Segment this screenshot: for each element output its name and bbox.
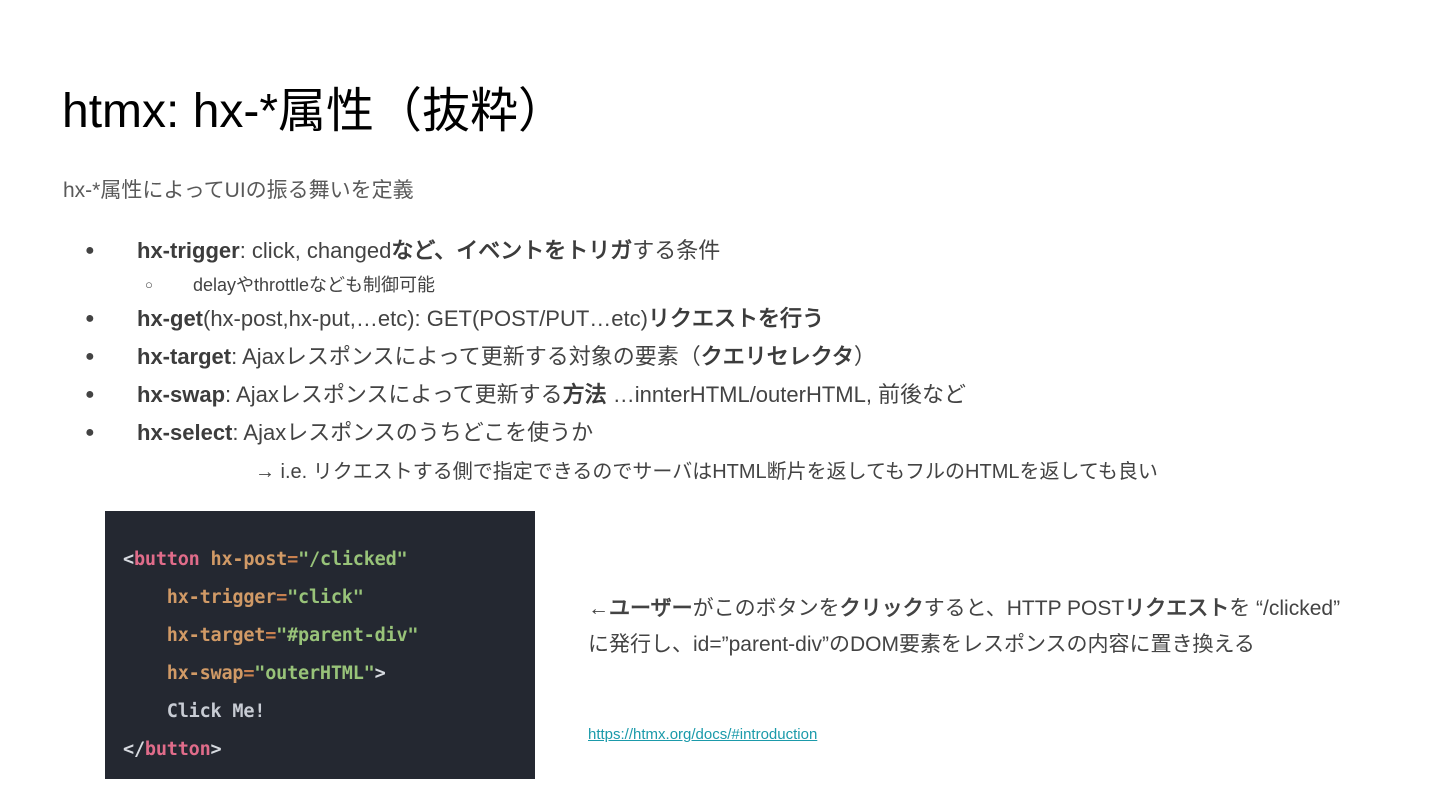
bullet-attribute-name: hx-trigger bbox=[137, 238, 240, 263]
bullet-text-plain: (hx-post,hx-put,…etc): GET(POST/PUT…etc) bbox=[203, 306, 648, 331]
code-token-punct bbox=[200, 549, 211, 570]
bullet-text-emphasis: など、イベントをトリガ bbox=[391, 238, 632, 263]
code-token-attr: hx-target bbox=[167, 625, 265, 646]
code-line-5: Click Me! bbox=[123, 693, 535, 731]
code-token-str: "click" bbox=[287, 587, 364, 608]
code-token-punct: > bbox=[375, 663, 386, 684]
desc-plain-b: すると、HTTP POST bbox=[924, 597, 1125, 620]
code-token-str: "#parent-div" bbox=[276, 625, 418, 646]
desc-bold-a: ユーザー bbox=[609, 597, 693, 620]
code-line-6: </button> bbox=[123, 731, 535, 769]
code-description: ←ユーザーがこのボタンをクリックすると、HTTP POSTリクエストを “/cl… bbox=[588, 591, 1348, 663]
bullet-text-emphasis: リクエストを行う bbox=[648, 306, 824, 331]
code-token-punct bbox=[123, 587, 167, 608]
bullet-text-emphasis: 方法 bbox=[563, 382, 607, 407]
desc-bold-b: クリック bbox=[840, 597, 924, 620]
bullet-marker-filled-icon: ● bbox=[85, 338, 137, 376]
code-token-str: "/clicked" bbox=[298, 549, 407, 570]
bullet-hx-select: ●hx-select: Ajaxレスポンスのうちどこを使うか bbox=[63, 414, 1383, 452]
bullet-attribute-name: hx-swap bbox=[137, 382, 225, 407]
bullet-text-tail: ） bbox=[854, 344, 876, 369]
bullet-hx-swap: ●hx-swap: Ajaxレスポンスによって更新する方法 …innterHTM… bbox=[63, 376, 1383, 414]
bullet-text: hx-swap: Ajaxレスポンスによって更新する方法 …innterHTML… bbox=[137, 376, 1383, 414]
bullet-text-emphasis: クエリセレクタ bbox=[701, 344, 854, 369]
code-token-str: "outerHTML" bbox=[254, 663, 374, 684]
bullet-text-plain: delayやthrottleなども制御可能 bbox=[193, 275, 435, 295]
bullet-text: delayやthrottleなども制御可能 bbox=[193, 270, 1383, 300]
bullet-hx-trigger: ●hx-trigger: click, changedなど、イベントをトリガする… bbox=[63, 232, 1383, 270]
slide-canvas: htmx: hx-*属性（抜粋） hx-*属性によってUIの振る舞いを定義 ●h… bbox=[0, 0, 1440, 810]
page-title: htmx: hx-*属性（抜粋） bbox=[62, 82, 566, 142]
code-sample-image: <button hx-post="/clicked" hx-trigger="c… bbox=[105, 511, 535, 779]
bullet-text-plain: : click, changed bbox=[240, 238, 392, 263]
code-token-eq: = bbox=[243, 663, 254, 684]
bullet-text: hx-get(hx-post,hx-put,…etc): GET(POST/PU… bbox=[137, 300, 1383, 338]
bullet-text-plain: : Ajaxレスポンスのうちどこを使うか bbox=[232, 420, 593, 445]
code-token-text: Click Me! bbox=[123, 701, 265, 722]
bullet-text: hx-trigger: click, changedなど、イベントをトリガする条… bbox=[137, 232, 1383, 270]
code-line-3: hx-target="#parent-div" bbox=[123, 617, 535, 655]
bullet-text: hx-target: Ajaxレスポンスによって更新する対象の要素（クエリセレク… bbox=[137, 338, 1383, 376]
code-token-punct bbox=[123, 625, 167, 646]
bullet-hx-target: ●hx-target: Ajaxレスポンスによって更新する対象の要素（クエリセレ… bbox=[63, 338, 1383, 376]
code-token-punct: </ bbox=[123, 739, 145, 760]
bullet-text: hx-select: Ajaxレスポンスのうちどこを使うか bbox=[137, 414, 1383, 452]
bullet-text-tail: …innterHTML/outerHTML, 前後など bbox=[607, 382, 966, 407]
bullet-text-plain: : Ajaxレスポンスによって更新する bbox=[225, 382, 563, 407]
bullet-delay-throttle: ○delayやthrottleなども制御可能 bbox=[63, 270, 1383, 300]
htmx-docs-link[interactable]: https://htmx.org/docs/#introduction bbox=[588, 724, 817, 746]
slide-subtitle: hx-*属性によってUIの振る舞いを定義 bbox=[63, 176, 414, 206]
code-token-eq: = bbox=[276, 587, 287, 608]
code-token-attr: hx-post bbox=[211, 549, 288, 570]
desc-plain-a: がこのボタンを bbox=[693, 597, 840, 620]
bullet-attribute-name: hx-select bbox=[137, 420, 232, 445]
bullet-hx-get: ●hx-get(hx-post,hx-put,…etc): GET(POST/P… bbox=[63, 300, 1383, 338]
code-token-attr: hx-swap bbox=[167, 663, 244, 684]
desc-bold-c: リクエスト bbox=[1124, 597, 1229, 620]
code-token-punct bbox=[123, 663, 167, 684]
bullet-attribute-name: hx-get bbox=[137, 306, 203, 331]
code-token-eq: = bbox=[265, 625, 276, 646]
bullet-marker-filled-icon: ● bbox=[85, 376, 137, 414]
bullet-text-plain: : Ajaxレスポンスによって更新する対象の要素（ bbox=[231, 344, 701, 369]
code-token-tag: button bbox=[134, 549, 200, 570]
code-token-tag: button bbox=[145, 739, 211, 760]
code-token-attr: hx-trigger bbox=[167, 587, 276, 608]
code-line-1: <button hx-post="/clicked" bbox=[123, 541, 535, 579]
bullet-marker-filled-icon: ● bbox=[85, 232, 137, 270]
bullet-marker-filled-icon: ● bbox=[85, 414, 137, 452]
desc-arrow: ← bbox=[588, 597, 609, 620]
bullet-marker-filled-icon: ● bbox=[85, 300, 137, 338]
bullet-marker-hollow-icon: ○ bbox=[145, 270, 193, 300]
bullet-attribute-name: hx-target bbox=[137, 344, 231, 369]
code-line-4: hx-swap="outerHTML"> bbox=[123, 655, 535, 693]
code-token-punct: < bbox=[123, 549, 134, 570]
bullet-note: → i.e. リクエストする側で指定できるのでサーバはHTML断片を返してもフル… bbox=[63, 454, 1383, 490]
code-token-punct: > bbox=[211, 739, 222, 760]
code-line-2: hx-trigger="click" bbox=[123, 579, 535, 617]
code-token-eq: = bbox=[287, 549, 298, 570]
bullet-list: ●hx-trigger: click, changedなど、イベントをトリガする… bbox=[63, 232, 1383, 490]
bullet-note-text: → i.e. リクエストする側で指定できるのでサーバはHTML断片を返してもフル… bbox=[255, 454, 1158, 490]
bullet-text-tail: する条件 bbox=[632, 238, 720, 263]
